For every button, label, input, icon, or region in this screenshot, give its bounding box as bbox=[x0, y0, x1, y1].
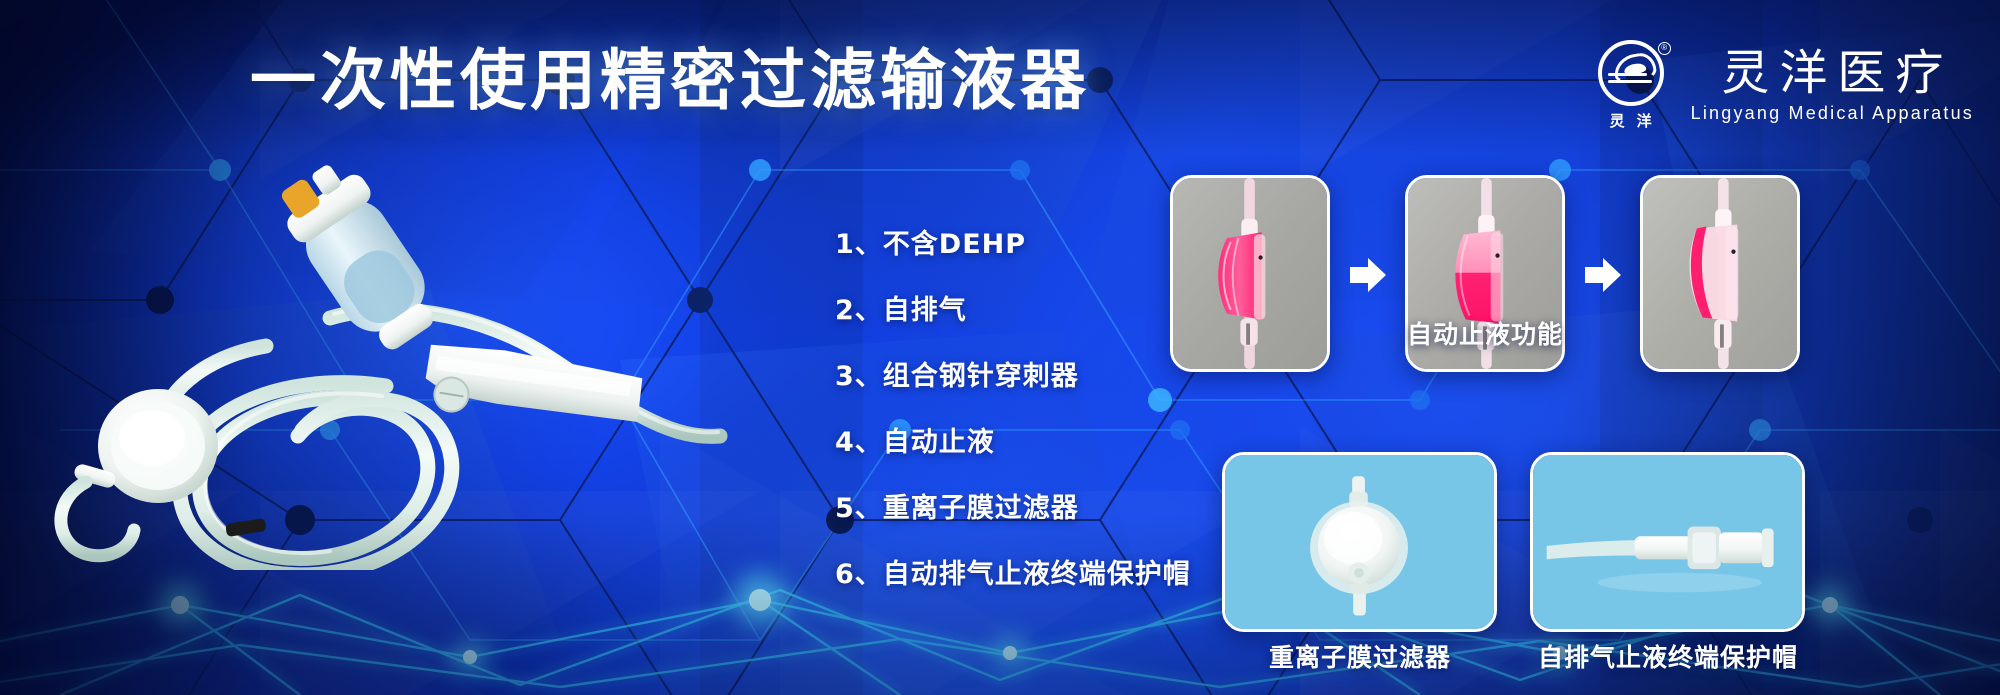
detail-photo-filter bbox=[1222, 452, 1497, 632]
sequence-photo-1-image bbox=[1173, 178, 1327, 369]
sequence-photo-3 bbox=[1640, 175, 1800, 372]
feature-item-5: 5、重离子膜过滤器 bbox=[835, 486, 1191, 525]
logo-wave-icon bbox=[1608, 73, 1654, 93]
arrow-right-icon bbox=[1585, 258, 1621, 292]
main-product-photo bbox=[30, 150, 750, 570]
company-logo-mark: ® 灵洋 bbox=[1593, 40, 1669, 132]
detail-caption-cap: 自排气止液终端保护帽 bbox=[1538, 638, 1798, 674]
detail-photo-filter-image bbox=[1225, 455, 1494, 629]
feature-item-4: 4、自动止液 bbox=[835, 420, 1191, 459]
feature-item-3: 3、组合钢针穿刺器 bbox=[835, 354, 1191, 393]
brand-name-en: Lingyang Medical Apparatus bbox=[1691, 103, 1974, 124]
product-illustration-svg bbox=[30, 150, 750, 570]
product-banner: 一次性使用精密过滤输液器 ® 灵洋 灵洋医疗 Lingyang Medical … bbox=[0, 0, 2000, 695]
sequence-photo-1 bbox=[1170, 175, 1330, 372]
brand-lockup: ® 灵洋 灵洋医疗 Lingyang Medical Apparatus bbox=[1593, 40, 1974, 132]
logo-circle-icon bbox=[1598, 40, 1664, 106]
drip-chamber-part bbox=[269, 150, 452, 361]
registered-trademark-icon: ® bbox=[1658, 42, 1671, 55]
arrow-right-icon bbox=[1350, 258, 1386, 292]
brand-name-cn: 灵洋医疗 bbox=[1711, 48, 1953, 99]
logo-char-left: 灵 bbox=[1610, 112, 1637, 130]
detail-photo-cap-image bbox=[1533, 455, 1802, 629]
detail-caption-filter: 重离子膜过滤器 bbox=[1269, 638, 1451, 674]
logo-char-right: 洋 bbox=[1637, 112, 1664, 130]
round-filter-part bbox=[73, 389, 218, 503]
feature-item-6: 6、自动排气止液终端保护帽 bbox=[835, 552, 1191, 591]
feature-item-2: 2、自排气 bbox=[835, 288, 1191, 327]
page-title: 一次性使用精密过滤输液器 bbox=[250, 44, 1090, 118]
feature-item-1: 1、不含DEHP bbox=[835, 222, 1191, 261]
feature-list: 1、不含DEHP 2、自排气 3、组合钢针穿刺器 4、自动止液 5、重离子膜过滤… bbox=[835, 222, 1191, 591]
tube-marker bbox=[225, 518, 267, 537]
sequence-caption: 自动止液功能 bbox=[1407, 315, 1563, 351]
detail-photo-cap bbox=[1530, 452, 1805, 632]
sequence-photo-3-image bbox=[1643, 178, 1797, 369]
logo-mark-characters: 灵洋 bbox=[1598, 110, 1664, 131]
brand-name-block: 灵洋医疗 Lingyang Medical Apparatus bbox=[1691, 48, 1974, 125]
